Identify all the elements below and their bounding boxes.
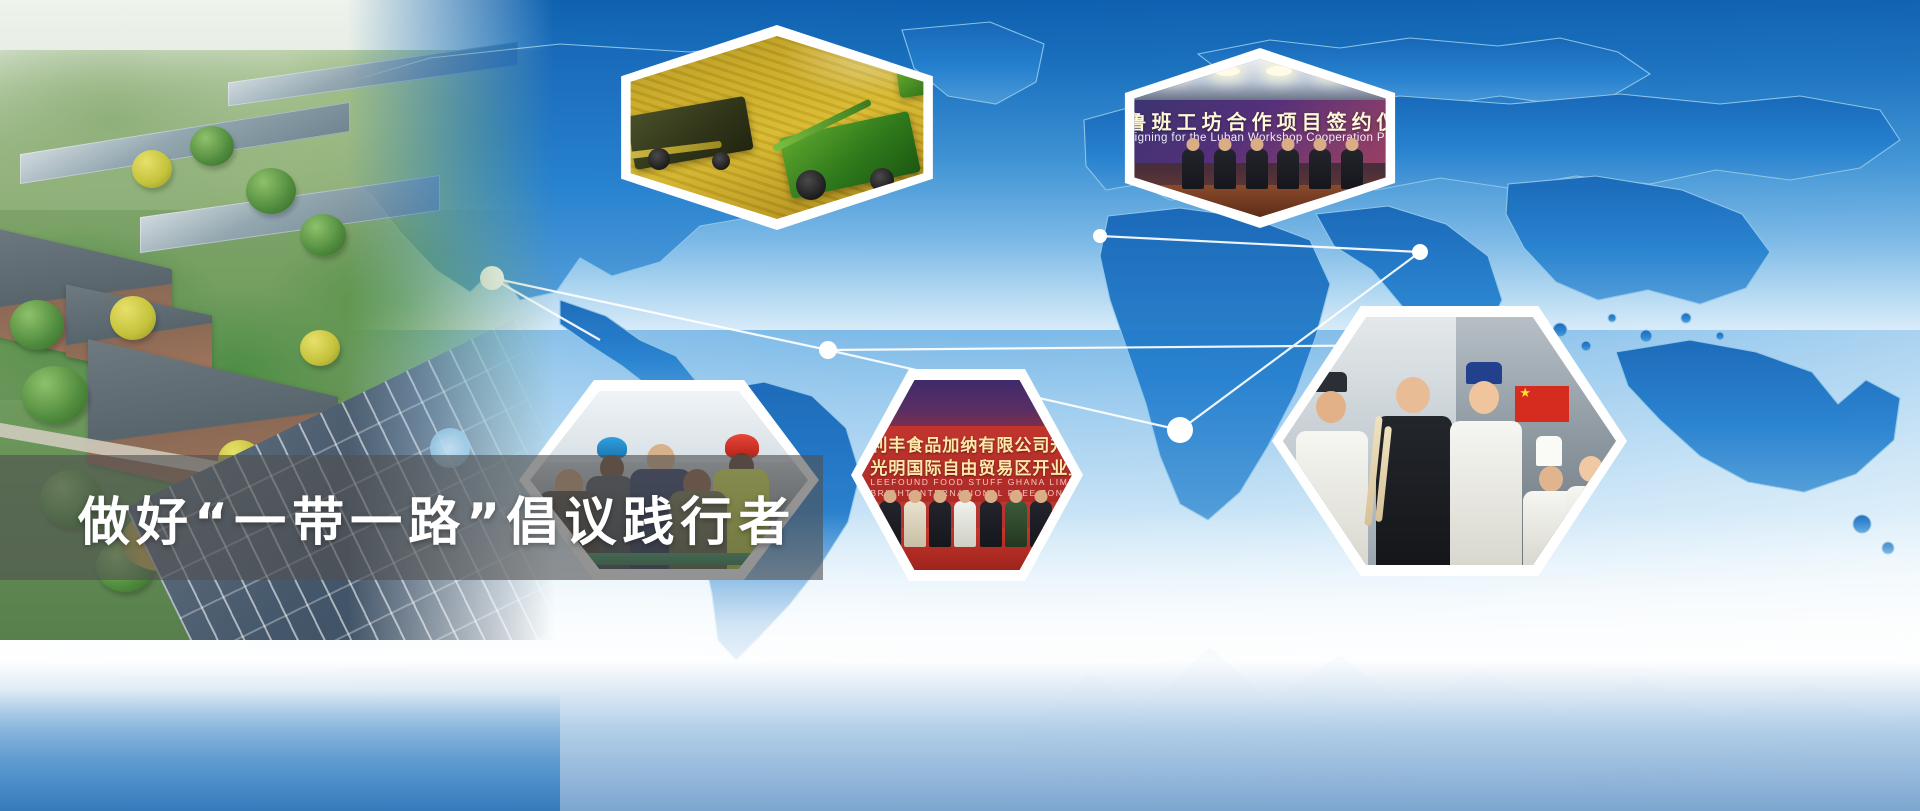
attendee-figure [1309, 149, 1331, 189]
hero-banner: 鲁班工坊合作项目签约仪式 Signing for the Luban Works… [0, 0, 1920, 811]
ceiling-lamp [1266, 66, 1292, 76]
guest-figure [954, 501, 976, 547]
harvester-wheel [870, 168, 894, 192]
attendee-figure [1246, 149, 1268, 189]
chef-cap [1313, 372, 1347, 392]
tree [132, 150, 172, 188]
tree [10, 300, 64, 350]
visitor-head [1396, 377, 1430, 413]
chef-cap [1466, 362, 1502, 384]
page-title: 做好“一带一路”倡议践行者 [78, 480, 796, 555]
chef-head [1579, 456, 1603, 482]
ceiling-lamp [1214, 66, 1240, 76]
hex-photo-inner: 鲁班工坊合作项目签约仪式 Signing for the Luban Works… [1115, 59, 1405, 217]
chef-figure [1450, 421, 1522, 565]
water-band-left [0, 691, 560, 811]
attendee-figure [1341, 149, 1363, 189]
tree [110, 296, 156, 340]
guest-figure [1005, 501, 1027, 547]
harvester-wheel [648, 148, 670, 170]
guest-figure [929, 501, 951, 547]
harvester-wheel [712, 152, 730, 170]
chef-toque [1536, 436, 1562, 466]
tree [246, 168, 296, 214]
guest-figure [980, 501, 1002, 547]
ceremony-banner-chinese-line2: 光明国际自由贸易区开业盛典 [870, 454, 1063, 479]
tree [300, 214, 346, 256]
hex-photo-inner [1283, 317, 1616, 565]
caption-overlay: 做好“一带一路”倡议践行者 [0, 455, 823, 580]
tree [300, 330, 340, 366]
attendee-figure [1277, 149, 1299, 189]
attendee-figure [1214, 149, 1236, 189]
attendee-figure [1182, 149, 1204, 189]
hex-photo-inner: 利丰食品加纳有限公司升级 光明国际自由贸易区开业盛典 LEEFOUND FOOD… [862, 380, 1072, 570]
tree [190, 126, 234, 166]
ceremony-banner-chinese-line1: 利丰食品加纳有限公司升级 [870, 431, 1063, 456]
guest-figure [904, 501, 926, 547]
ceremony-banner-english-line1: LEEFOUND FOOD STUFF GHANA LIMITED OPENIN… [870, 477, 1063, 487]
tree [22, 366, 88, 424]
harvester-wheel [796, 170, 826, 200]
chinese-flag [1515, 386, 1569, 422]
